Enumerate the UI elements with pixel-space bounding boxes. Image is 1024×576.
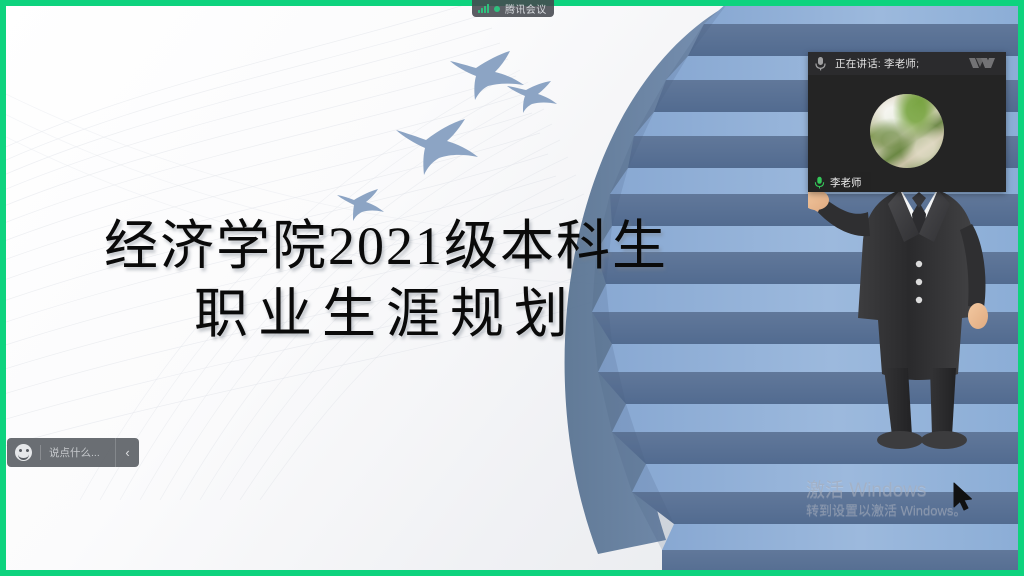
participant-video-thumbnail — [870, 94, 944, 168]
microphone-on-icon — [814, 176, 825, 189]
presenter-figure — [808, 168, 1018, 458]
voov-logo — [968, 55, 1002, 71]
watermark-line-1: 激活 Windows — [806, 480, 1006, 502]
slide-title-line-2: 职业生涯规划 — [56, 280, 716, 348]
speaker-video-panel[interactable]: 正在讲话: 李老师; 李老师 — [808, 52, 1006, 192]
participant-name-badge: 李老师 — [808, 172, 871, 192]
emoji-picker-button[interactable] — [7, 438, 40, 467]
speaking-status-label: 正在讲话: 李老师; — [835, 56, 919, 71]
slide-title: 经济学院2021级本科生 职业生涯规划 — [56, 212, 716, 348]
microphone-icon — [814, 56, 827, 71]
windows-activation-watermark: 激活 Windows 转到设置以激活 Windows。 — [806, 480, 1006, 519]
video-panel-header: 正在讲话: 李老师; — [808, 52, 1006, 75]
slide-title-line-1: 经济学院2021级本科生 — [56, 212, 716, 280]
chevron-left-icon[interactable]: ‹ — [115, 438, 139, 467]
smiley-face-icon — [15, 444, 32, 461]
watermark-line-2: 转到设置以激活 Windows。 — [806, 502, 1006, 519]
background-swirl-decoration — [0, 0, 740, 500]
video-stage: 李老师 — [808, 75, 1006, 192]
meeting-toolbar-pill[interactable]: 腾讯会议 — [472, 0, 554, 17]
screen-share-view: 经济学院2021级本科生 职业生涯规划 激活 Windows 转到设置以激活 W… — [0, 0, 1024, 576]
meeting-app-name: 腾讯会议 — [505, 1, 547, 16]
chat-input-bar[interactable]: 说点什么... ‹ — [7, 438, 139, 467]
flying-birds-decoration — [330, 40, 630, 240]
signal-bars-icon — [478, 4, 489, 13]
participant-name: 李老师 — [830, 175, 862, 190]
chat-message-input[interactable]: 说点什么... — [41, 445, 115, 460]
recording-status-dot — [494, 6, 500, 12]
